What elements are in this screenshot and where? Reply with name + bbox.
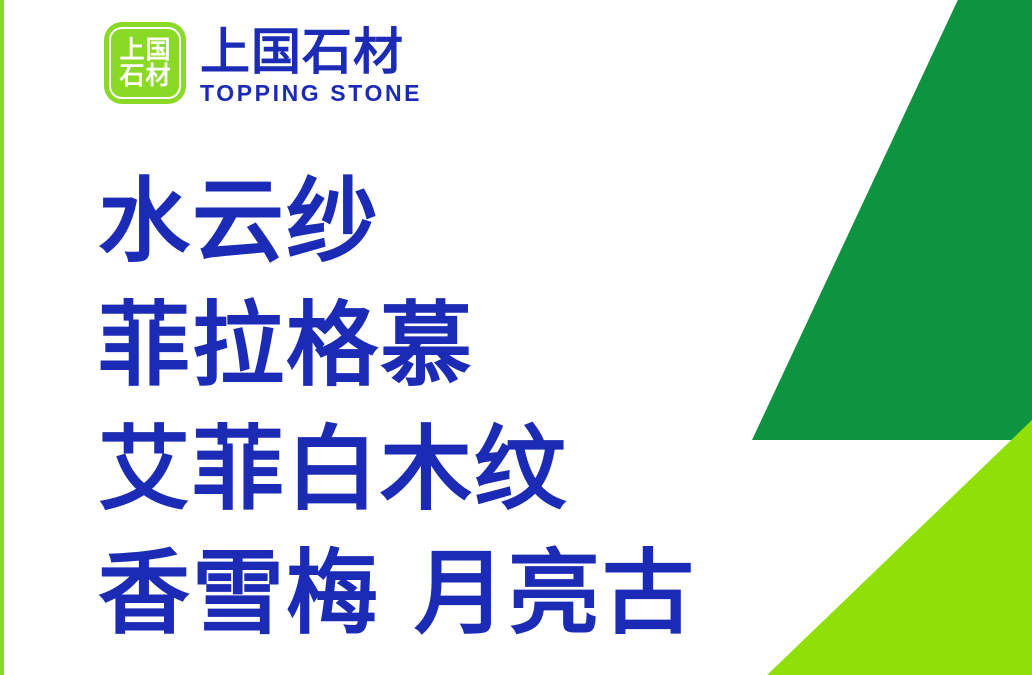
product-name-list: 水云纱 菲拉格慕 艾菲白木纹 香雪梅 月亮古	[98, 160, 696, 656]
product-name-line-3: 艾菲白木纹	[98, 408, 696, 532]
brand-name-chinese: 上国石材	[200, 25, 422, 79]
logo-glyph-guo: 国	[145, 37, 171, 63]
product-name-line-1: 水云纱	[98, 160, 696, 284]
company-logo-icon: 上 国 石 材	[104, 22, 186, 104]
logo-glyph-grid: 上 国 石 材	[119, 37, 171, 89]
brand-header: 上 国 石 材 上国石材 TOPPING STONE	[104, 22, 422, 106]
product-name-line-2: 菲拉格慕	[98, 284, 696, 408]
logo-glyph-shang: 上	[119, 37, 145, 63]
left-edge-green-strip	[0, 0, 4, 675]
brand-text-block: 上国石材 TOPPING STONE	[200, 22, 422, 106]
dark-green-diagonal-shape	[752, 0, 1032, 440]
poster-canvas: 上 国 石 材 上国石材 TOPPING STONE 水云纱 菲拉格慕 艾菲白木…	[0, 0, 1032, 675]
logo-glyph-shi: 石	[119, 63, 145, 89]
brand-name-english: TOPPING STONE	[200, 80, 422, 106]
lime-green-diagonal-shape	[732, 420, 1032, 675]
logo-glyph-cai: 材	[145, 63, 171, 89]
product-name-line-4: 香雪梅 月亮古	[98, 532, 696, 656]
